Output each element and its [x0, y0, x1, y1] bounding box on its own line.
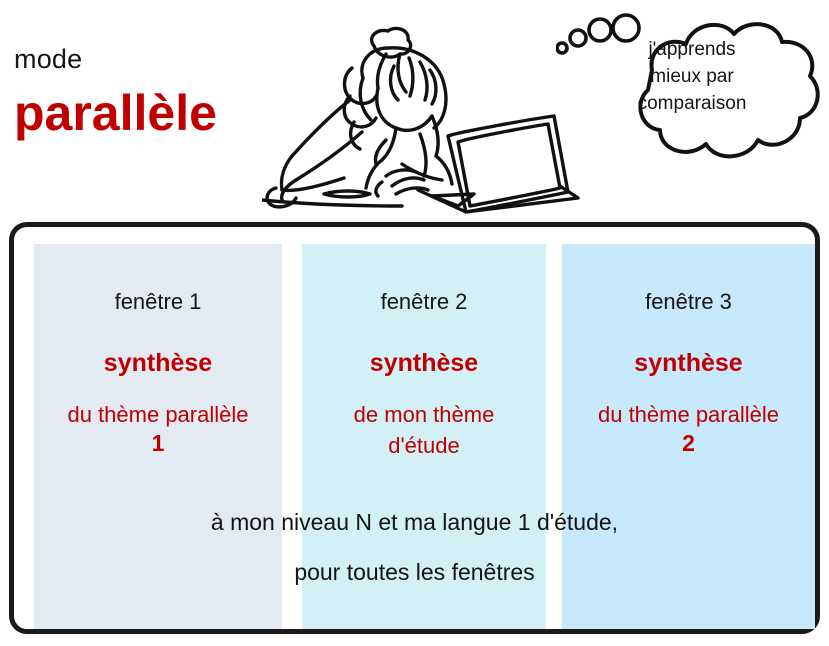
theme-number-3: 2 [562, 430, 815, 457]
mode-title: parallèle [14, 84, 217, 142]
synthese-subtitle-3: du thème parallèle [562, 399, 815, 430]
synthese-subtitle-2-line-2: d'étude [302, 430, 546, 461]
synthese-heading-2: synthèse [302, 349, 546, 378]
synthese-subtitle-2-line-1: de mon thème [302, 399, 546, 430]
slide-canvas: mode parallèle [0, 0, 829, 646]
window-label-1: fenêtre 1 [34, 289, 282, 315]
synthese-heading-1: synthèse [34, 349, 282, 378]
synthese-heading-3: synthèse [562, 349, 815, 378]
thought-bubble-text: j'apprends mieux par comparaison [592, 36, 792, 117]
theme-number-1: 1 [34, 430, 282, 457]
bubble-line-1: j'apprends [592, 36, 792, 63]
window-column-3[interactable]: fenêtre 3 synthèse du thème parallèle 2 [562, 244, 815, 629]
window-label-3: fenêtre 3 [562, 289, 815, 315]
bubble-line-3: comparaison [592, 90, 792, 117]
windows-columns: fenêtre 1 synthèse du thème parallèle 1 … [14, 227, 815, 629]
synthese-subtitle-2: de mon thème d'étude [302, 399, 546, 461]
synthese-subtitle-1: du thème parallèle [34, 399, 282, 430]
person-at-laptop-icon [262, 4, 582, 222]
header-area: mode parallèle [0, 0, 829, 222]
windows-panel: fenêtre 1 synthèse du thème parallèle 1 … [9, 222, 820, 634]
thought-dot-2 [570, 30, 586, 46]
window-column-2[interactable]: fenêtre 2 synthèse de mon thème d'étude [302, 244, 546, 629]
mode-label: mode [14, 44, 82, 75]
window-column-1[interactable]: fenêtre 1 synthèse du thème parallèle 1 [34, 244, 282, 629]
bubble-line-2: mieux par [592, 63, 792, 90]
window-label-2: fenêtre 2 [302, 289, 546, 315]
thought-dot-1 [557, 43, 567, 53]
